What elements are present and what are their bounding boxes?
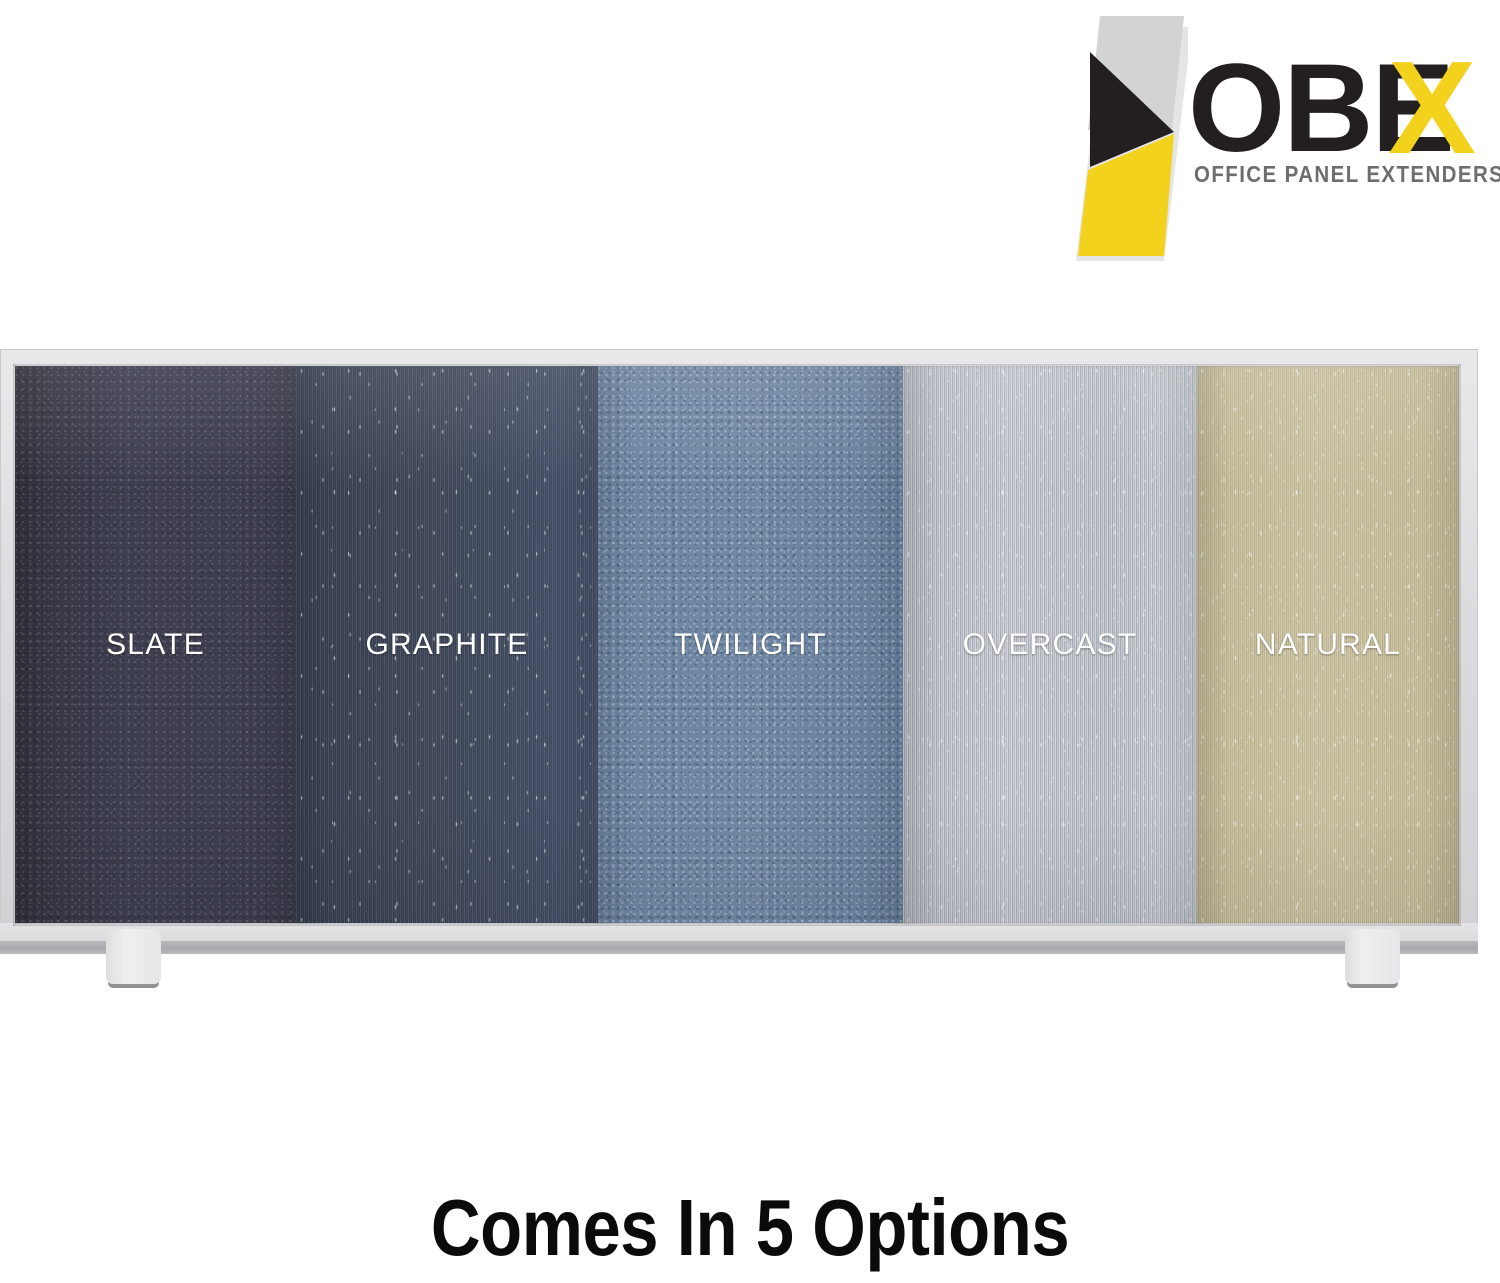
swatch-label-slate: SLATE	[15, 628, 296, 662]
swatch-label-graphite: GRAPHITE	[296, 628, 598, 662]
swatch-label-overcast: OVERCAST	[903, 628, 1197, 662]
swatch-graphite[interactable]: GRAPHITE	[296, 366, 598, 924]
foot-body	[106, 929, 161, 984]
logo-tagline: OFFICE PANEL EXTENDERS	[1194, 162, 1500, 189]
obex-logo: OBE X OFFICE PANEL EXTENDERS	[1068, 8, 1468, 258]
swatch-twilight[interactable]: TWILIGHT	[598, 366, 903, 924]
panel-foot-left	[106, 929, 161, 994]
swatch-overcast[interactable]: OVERCAST	[903, 366, 1197, 924]
swatch-label-twilight: TWILIGHT	[598, 628, 903, 662]
swatch-label-natural: NATURAL	[1197, 628, 1459, 662]
panel-assembly: SLATE GRAPHITE TWILIGHT	[0, 349, 1478, 949]
panel-frame: SLATE GRAPHITE TWILIGHT	[0, 349, 1478, 941]
foot-body	[1345, 929, 1400, 984]
product-caption: Comes In 5 Options	[105, 1182, 1395, 1274]
swatch-slate[interactable]: SLATE	[15, 366, 296, 924]
panel-bottom-rail-lower	[0, 941, 1478, 954]
obex-logo-mark	[1068, 12, 1188, 262]
fabric-swatch-strip: SLATE GRAPHITE TWILIGHT	[15, 366, 1459, 924]
logo-text-x: X	[1388, 42, 1474, 174]
swatch-natural[interactable]: NATURAL	[1197, 366, 1459, 924]
panel-foot-right	[1345, 929, 1400, 994]
